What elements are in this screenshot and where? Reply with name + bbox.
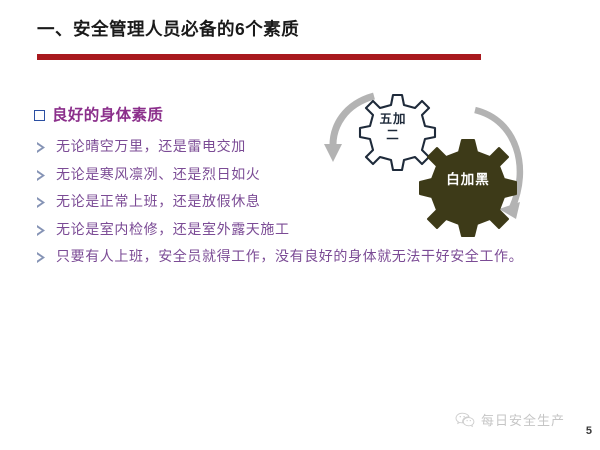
title-underline-rule — [37, 54, 481, 60]
watermark: 每日安全生产 — [455, 410, 565, 429]
gear-illustration-svg — [312, 82, 547, 247]
list-item-text: 无论是室内检修，还是室外露天施工 — [56, 221, 290, 239]
list-item-text: 无论是正常上班，还是放假休息 — [56, 193, 260, 211]
wechat-icon — [455, 412, 475, 428]
watermark-label: 每日安全生产 — [481, 410, 565, 429]
arrow-bullet-icon — [36, 196, 47, 209]
arrow-bullet-icon — [36, 251, 47, 264]
arrow-bullet-icon — [36, 169, 47, 182]
list-item-text: 无论晴空万里，还是雷电交加 — [56, 138, 246, 156]
arrow-bullet-icon — [36, 224, 47, 237]
arrow-bullet-icon — [36, 141, 47, 154]
light-gear-shape — [360, 95, 435, 170]
list-item: 只要有人上班，安全员就得工作，没有良好的身体就无法干好安全工作。 — [34, 248, 514, 266]
list-item-text: 无论是寒风凛冽、还是烈日如火 — [56, 166, 260, 184]
dark-gear-shape — [420, 140, 516, 236]
page-title: 一、安全管理人员必备的6个素质 — [37, 18, 537, 41]
section-subheading-label: 良好的身体素质 — [52, 103, 163, 125]
list-item-text: 只要有人上班，安全员就得工作，没有良好的身体就无法干好安全工作。 — [56, 248, 523, 266]
page-number: 5 — [586, 425, 592, 437]
slide-canvas: 一、安全管理人员必备的6个素质 良好的身体素质 无论晴空万里，还是雷电交加 — [0, 0, 600, 450]
title-block: 一、安全管理人员必备的6个素质 — [37, 18, 537, 41]
gear-illustration: 五加 二 白加黑 — [312, 82, 547, 247]
square-bullet-icon — [34, 110, 45, 121]
